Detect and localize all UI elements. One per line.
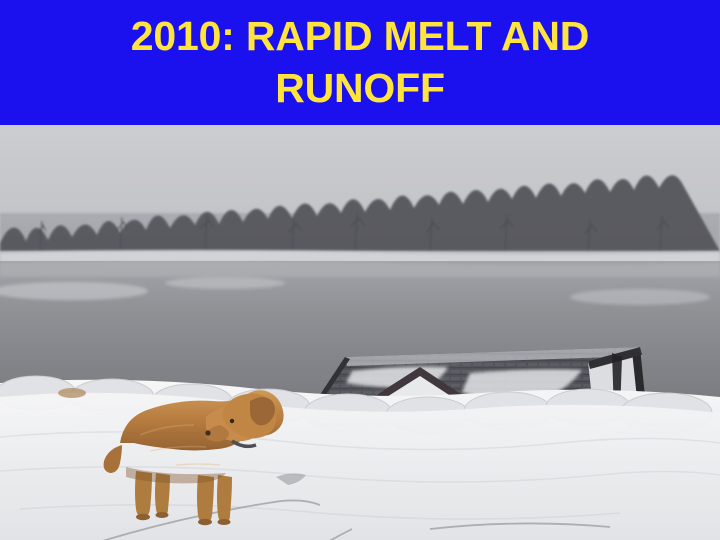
flood-photo-artwork — [0, 125, 720, 540]
flood-photograph — [0, 125, 720, 540]
title-banner: 2010: RAPID MELT AND RUNOFF — [0, 0, 720, 125]
photo-haze — [0, 125, 720, 540]
slide-title: 2010: RAPID MELT AND RUNOFF — [30, 10, 690, 114]
slide: 2010: RAPID MELT AND RUNOFF — [0, 0, 720, 540]
